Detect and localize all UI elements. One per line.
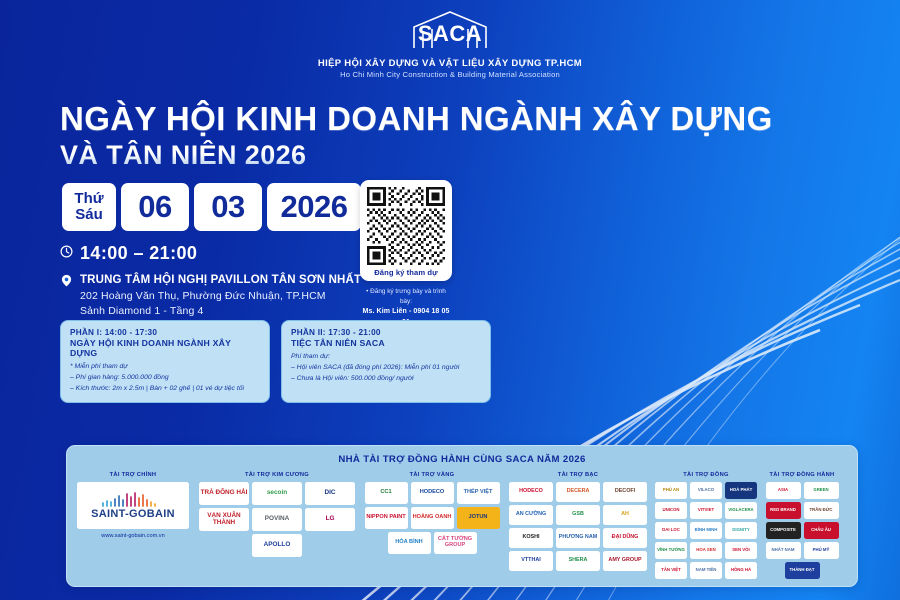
sponsor-logo[interactable]: ĐẠI DŨNG [603, 528, 647, 548]
qr-label: Đăng ký tham dự [367, 268, 445, 277]
sponsor-logos-gold: CC1 HODECO THÉP VIỆT NIPPON PAINT HOÀNG … [362, 482, 502, 554]
venue-address: 202 Hoàng Văn Thụ, Phường Đức Nhuận, TP.… [80, 289, 361, 304]
phase-2-details: Phí tham dự: – Hội viên SACA (đã đóng ph… [291, 351, 481, 384]
sponsor-logo[interactable]: HÒA BÌNH [388, 532, 431, 554]
sponsor-logo[interactable]: AN CƯỜNG [509, 505, 553, 525]
svg-text:SACA: SACA [418, 21, 482, 46]
sponsor-heading-diamond: TÀI TRỢ KIM CƯƠNG [245, 472, 309, 478]
date-year-chip: 2026 [267, 183, 361, 231]
qr-card[interactable]: Đăng ký tham dự [360, 180, 452, 281]
sponsor-logo[interactable]: LG [305, 508, 355, 531]
sponsor-logo[interactable]: DAI LOC [655, 522, 687, 539]
sponsor-logo[interactable]: TRẦN ĐỨC [804, 502, 839, 519]
sponsor-logo[interactable]: KOSHI [509, 528, 553, 548]
phase-2-line-2: – Hội viên SACA (đã đóng phí 2026): Miễn… [291, 362, 481, 373]
sponsor-logo[interactable]: PHÚ MỸ [804, 542, 839, 559]
association-name-vn: HIỆP HỘI XÂY DỰNG VÀ VẬT LIỆU XÂY DỰNG T… [0, 58, 900, 69]
venue-name: TRUNG TÂM HỘI NGHỊ PAVILLON TÂN SƠN NHẤT [80, 274, 361, 286]
sponsor-logo[interactable]: SAINT-GOBAIN [77, 482, 189, 529]
sponsor-logo[interactable]: COMPOSITE [766, 522, 801, 539]
event-venue-row: TRUNG TÂM HỘI NGHỊ PAVILLON TÂN SƠN NHẤT… [60, 272, 361, 319]
sponsor-logo[interactable]: DIGNITY [725, 522, 757, 539]
sponsor-logo[interactable]: TÂN VIỆT [655, 562, 687, 579]
sponsor-logo[interactable]: AH [603, 505, 647, 525]
phase-1-line-1: * Miễn phí tham dự [70, 361, 260, 372]
sponsor-logo-label: SAINT-GOBAIN [91, 509, 175, 520]
date-day-chip: 06 [121, 183, 189, 231]
sponsor-heading-silver: TÀI TRỢ BẠC [558, 472, 598, 478]
sponsor-col-diamond: TÀI TRỢ KIM CƯƠNG TRÀ ĐÔNG HẢI secoin DI… [197, 472, 357, 557]
poster-title: NGÀY HỘI KINH DOANH NGÀNH XÂY DỰNG VÀ TÂ… [60, 101, 773, 170]
sponsor-heading-gold: TÀI TRỢ VÀNG [410, 472, 455, 478]
phase-2-time: PHẦN II: 17:30 - 21:00 [291, 328, 481, 337]
saca-logo-icon: SACA [402, 8, 498, 50]
event-poster: SACA HIỆP HỘI XÂY DỰNG VÀ VẬT LIỆU XÂY D… [0, 0, 900, 600]
date-weekday-chip: Thứ Sáu [62, 183, 116, 231]
venue-hall: Sảnh Diamond 1 - Tầng 4 [80, 304, 361, 319]
sponsor-logo[interactable]: SHERA [556, 551, 600, 571]
sponsor-logo[interactable]: VTTHAI [509, 551, 553, 571]
sponsor-logo[interactable]: THÉP VIỆT [457, 482, 500, 504]
sponsors-title: NHÀ TÀI TRỢ ĐỒNG HÀNH CÙNG SACA NĂM 2026 [67, 446, 857, 465]
clock-icon [60, 245, 73, 258]
event-time-row: 14:00 – 21:00 [60, 243, 361, 264]
title-line-1: NGÀY HỘI KINH DOANH NGÀNH XÂY DỰNG [60, 101, 773, 137]
sponsor-logo[interactable]: THÀNH ĐẠT [785, 562, 820, 579]
sponsor-logo[interactable]: GREEN [804, 482, 839, 499]
phase-1-line-2: – Phí gian hàng: 5.000.000 đồng [70, 372, 260, 383]
sponsors-panel: NHÀ TÀI TRỢ ĐỒNG HÀNH CÙNG SACA NĂM 2026… [66, 445, 858, 587]
association-name-en: Ho Chi Minh City Construction & Building… [0, 70, 900, 79]
sponsor-logo[interactable]: AMY GROUP [603, 551, 647, 571]
saca-logo-block: SACA HIỆP HỘI XÂY DỰNG VÀ VẬT LIỆU XÂY D… [0, 8, 900, 79]
phase-1-name: NGÀY HỘI KINH DOANH NGÀNH XÂY DỰNG [70, 338, 260, 358]
sponsor-logo[interactable]: NAM TIẾN [690, 562, 722, 579]
sponsor-logos-main: SAINT-GOBAIN [77, 482, 189, 529]
qr-code-icon[interactable] [367, 187, 445, 265]
sponsor-logo[interactable]: CÁT TƯỜNG GROUP [434, 532, 477, 554]
phase-1-time: PHẦN I: 14:00 - 17:30 [70, 328, 260, 337]
phase-1-details: * Miễn phí tham dự – Phí gian hàng: 5.00… [70, 361, 260, 394]
sponsor-logos-companion: ASIA GREEN RED BRAND TRẦN ĐỨC COMPOSITE … [763, 482, 841, 579]
sponsor-col-main: TÀI TRỢ CHÍNH [74, 472, 192, 539]
date-month-chip: 03 [194, 183, 262, 231]
sponsor-logo[interactable]: VẠN XUÂN THÀNH [199, 508, 249, 531]
qr-note-1: • Đăng ký trưng bày và trình bày: [366, 288, 446, 305]
sponsor-logo[interactable]: NHẤT NAM [766, 542, 801, 559]
sponsor-logo[interactable]: VĨNH TƯỜNG [655, 542, 687, 559]
sponsor-logo[interactable]: JOTUN [457, 507, 500, 529]
event-meta: 14:00 – 21:00 TRUNG TÂM HỘI NGHỊ PAVILLO… [60, 243, 361, 319]
sponsor-columns: TÀI TRỢ CHÍNH [67, 465, 857, 579]
sponsor-logos-diamond: TRÀ ĐÔNG HẢI secoin DIC VẠN XUÂN THÀNH P… [197, 482, 357, 557]
sponsor-heading-companion: TÀI TRỢ ĐỒNG HÀNH [770, 472, 835, 478]
phase-2-box: PHẦN II: 17:30 - 21:00 TIỆC TÂN NIÊN SAC… [281, 320, 491, 403]
sponsor-logo[interactable]: POVINA [252, 508, 302, 531]
sponsor-logo[interactable]: SEN VÒI [725, 542, 757, 559]
sponsor-logo[interactable]: DECOFI [603, 482, 647, 502]
date-weekday-line1: Thứ [74, 191, 103, 207]
phase-1-line-3: – Kích thước: 2m x 2.5m | Bàn + 02 ghế |… [70, 383, 260, 394]
sponsor-logo[interactable]: CHÂU ÂU [804, 522, 839, 539]
phase-2-line-3: – Chưa là Hội viên: 500.000 đồng/ người [291, 373, 481, 384]
sponsor-col-gold: TÀI TRỢ VÀNG CC1 HODECO THÉP VIỆT NIPPON… [362, 472, 502, 554]
location-pin-icon [60, 274, 73, 287]
sponsor-logo[interactable]: PHƯƠNG NAM [556, 528, 600, 548]
sponsor-heading-main: TÀI TRỢ CHÍNH [110, 472, 157, 478]
sponsor-logo[interactable]: ASIA [766, 482, 801, 499]
phase-2-line-1: Phí tham dự: [291, 351, 481, 362]
sponsor-website[interactable]: www.saint-gobain.com.vn [101, 533, 164, 539]
sponsor-logo[interactable]: HOÀ PHÁT [725, 482, 757, 499]
sponsor-heading-bronze: TÀI TRỢ ĐỒNG [683, 472, 728, 478]
sponsor-logo[interactable]: APOLLO [252, 534, 302, 557]
sponsor-col-companion: TÀI TRỢ ĐỒNG HÀNH ASIA GREEN RED BRAND T… [763, 472, 841, 579]
sponsor-col-silver: TÀI TRỢ BẠC HODECO DECERA DECOFI AN CƯỜN… [507, 472, 649, 571]
sponsor-col-bronze: TÀI TRỢ ĐỒNG PHÚ AN VILACO HOÀ PHÁT UNIC… [654, 472, 758, 579]
sponsor-logo[interactable]: UNICON [655, 502, 687, 519]
sponsor-logos-silver: HODECO DECERA DECOFI AN CƯỜNG GSB AH KOS… [507, 482, 649, 571]
sponsor-logo[interactable]: HỒNG HÀ [725, 562, 757, 579]
event-venue: TRUNG TÂM HỘI NGHỊ PAVILLON TÂN SƠN NHẤT… [80, 272, 361, 319]
sponsor-logo[interactable]: DIC [305, 482, 355, 505]
sponsor-logo[interactable]: HODECO [509, 482, 553, 502]
sponsor-logo[interactable]: RED BRAND [766, 502, 801, 519]
sponsor-logo[interactable]: secoin [252, 482, 302, 505]
sponsor-logo[interactable]: DECERA [556, 482, 600, 502]
title-line-2: VÀ TÂN NIÊN 2026 [60, 140, 773, 170]
saint-gobain-skyline-icon [101, 492, 165, 507]
sponsor-logo[interactable]: HOÀNG OANH [411, 507, 454, 529]
sponsor-logos-bronze: PHÚ AN VILACO HOÀ PHÁT UNICON VITVIET VI… [654, 482, 758, 579]
sponsor-logo[interactable]: CC1 [365, 482, 408, 504]
sponsor-logo[interactable]: VILACO [690, 482, 722, 499]
sponsor-logo[interactable]: HODECO [411, 482, 454, 504]
sponsor-logo[interactable]: PHÚ AN [655, 482, 687, 499]
program-phases: PHẦN I: 14:00 - 17:30 NGÀY HỘI KINH DOAN… [60, 320, 491, 403]
event-date: Thứ Sáu 06 03 2026 [62, 183, 361, 231]
phase-1-box: PHẦN I: 14:00 - 17:30 NGÀY HỘI KINH DOAN… [60, 320, 270, 403]
event-time: 14:00 – 21:00 [80, 243, 197, 264]
sponsor-logo[interactable]: HOA SEN [690, 542, 722, 559]
date-weekday-line2: Sáu [75, 207, 103, 223]
sponsor-logo[interactable]: GSB [556, 505, 600, 525]
sponsor-logo[interactable]: VIGLACERA [725, 502, 757, 519]
sponsor-logo[interactable]: TRÀ ĐÔNG HẢI [199, 482, 249, 505]
phase-2-name: TIỆC TÂN NIÊN SACA [291, 338, 481, 348]
sponsor-logo[interactable]: VITVIET [690, 502, 722, 519]
sponsor-logo[interactable]: NIPPON PAINT [365, 507, 408, 529]
sponsor-logo[interactable]: BÌNH MINH [690, 522, 722, 539]
